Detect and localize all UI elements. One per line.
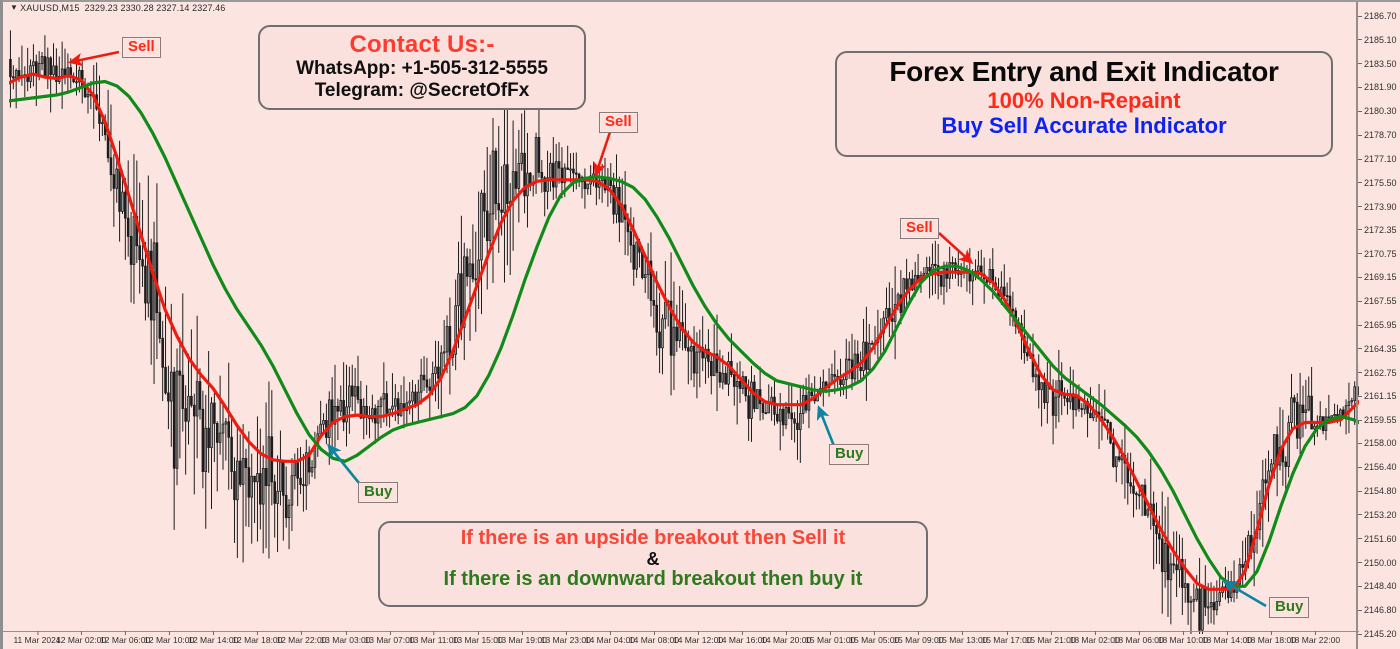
price-tick-label: 2175.50 [1358,179,1397,188]
rule-conjunction: & [390,550,916,568]
time-tick-label: 12 Mar 06:00 [100,636,150,645]
price-tick-label: 2185.10 [1358,36,1397,45]
price-tick-label: 2169.15 [1358,273,1397,282]
contact-whatsapp: WhatsApp: +1-505-312-5555 [270,58,574,80]
time-tick-label: 13 Mar 23:00 [541,636,591,645]
price-tick-label: 2151.60 [1358,535,1397,544]
price-tick-label: 2156.40 [1358,463,1397,472]
time-tick-label: 18 Mar 22:00 [1290,636,1340,645]
time-tick-label: 15 Mar 21:00 [1026,636,1076,645]
price-tick-label: 2181.90 [1358,83,1397,92]
time-tick-label: 15 Mar 01:00 [805,636,855,645]
contact-callout-box: Contact Us:- WhatsApp: +1-505-312-5555 T… [258,25,586,110]
time-tick-label: 11 Mar 2024 [13,636,60,645]
price-axis[interactable]: 2186.702185.102183.502181.902180.302178.… [1356,2,1400,649]
price-tick-label: 2158.00 [1358,439,1397,448]
time-tick-label: 14 Mar 20:00 [761,636,811,645]
chart-frame: ▼XAUUSD,M152329.23 2330.28 2327.14 2327.… [0,0,1400,649]
time-tick-label: 12 Mar 10:00 [144,636,194,645]
price-tick-label: 2183.50 [1358,60,1397,69]
time-tick-label: 15 Mar 09:00 [893,636,943,645]
time-tick-label: 18 Mar 06:00 [1114,636,1164,645]
price-tick-label: 2170.75 [1358,250,1397,259]
time-axis[interactable]: 11 Mar 202412 Mar 02:0012 Mar 06:0012 Ma… [3,631,1359,649]
forex-chart-screenshot: ▼XAUUSD,M152329.23 2330.28 2327.14 2327.… [0,0,1400,649]
time-tick-label: 18 Mar 10:00 [1158,636,1208,645]
indicator-subtitle-accuracy: Buy Sell Accurate Indicator [847,113,1321,138]
price-tick-label: 2162.75 [1358,369,1397,378]
price-tick-label: 2150.00 [1358,559,1397,568]
time-tick-label: 18 Mar 02:00 [1070,636,1120,645]
ohlc-values: 2329.23 2330.28 2327.14 2327.46 [85,3,226,13]
time-tick-label: 12 Mar 22:00 [276,636,326,645]
time-tick-label: 13 Mar 07:00 [365,636,415,645]
sell-signal-tag[interactable]: Sell [900,218,939,239]
rule-buy-text: If there is an downward breakout then bu… [390,568,916,591]
price-tick-label: 2186.70 [1358,12,1397,21]
sell-signal-tag[interactable]: Sell [599,112,638,133]
indicator-title: Forex Entry and Exit Indicator [847,56,1321,88]
time-tick-label: 14 Mar 16:00 [717,636,767,645]
price-tick-label: 2153.20 [1358,511,1397,520]
price-tick-label: 2145.20 [1358,630,1397,639]
price-tick-label: 2165.95 [1358,321,1397,330]
price-tick-label: 2173.90 [1358,203,1397,212]
symbol-header: ▼XAUUSD,M152329.23 2330.28 2327.14 2327.… [10,3,225,13]
contact-telegram: Telegram: @SecretOfFx [270,80,574,102]
time-tick-label: 18 Mar 18:00 [1246,636,1296,645]
price-tick-label: 2177.10 [1358,155,1397,164]
price-tick-label: 2167.55 [1358,297,1397,306]
price-tick-label: 2161.15 [1358,392,1397,401]
rule-sell-text: If there is an upside breakout then Sell… [390,527,916,550]
time-tick-label: 15 Mar 17:00 [981,636,1031,645]
price-tick-label: 2159.55 [1358,416,1397,425]
time-tick-label: 18 Mar 14:00 [1202,636,1252,645]
time-tick-label: 12 Mar 02:00 [56,636,106,645]
time-tick-label: 14 Mar 08:00 [629,636,679,645]
time-tick-label: 15 Mar 13:00 [937,636,987,645]
price-tick-label: 2146.80 [1358,606,1397,615]
price-tick-label: 2172.35 [1358,226,1397,235]
buy-signal-tag[interactable]: Buy [358,482,398,503]
triangle-down-icon[interactable]: ▼ [10,3,18,12]
price-tick-label: 2164.35 [1358,345,1397,354]
time-tick-label: 12 Mar 18:00 [232,636,282,645]
indicator-title-box: Forex Entry and Exit Indicator 100% Non-… [835,51,1333,157]
indicator-subtitle-repaint: 100% Non-Repaint [847,88,1321,113]
time-tick-label: 14 Mar 12:00 [673,636,723,645]
time-tick-label: 13 Mar 03:00 [320,636,370,645]
time-tick-label: 12 Mar 14:00 [188,636,238,645]
time-tick-label: 13 Mar 11:00 [409,636,458,645]
price-tick-label: 2148.40 [1358,582,1397,591]
price-tick-label: 2178.70 [1358,131,1397,140]
symbol-label: XAUUSD,M15 [20,3,80,13]
trading-rules-box: If there is an upside breakout then Sell… [378,521,928,607]
contact-heading: Contact Us:- [270,31,574,58]
time-tick-label: 13 Mar 19:00 [497,636,547,645]
buy-signal-tag[interactable]: Buy [829,444,869,465]
price-tick-label: 2180.30 [1358,107,1397,116]
buy-signal-tag[interactable]: Buy [1269,597,1309,618]
time-tick-label: 13 Mar 15:00 [453,636,503,645]
time-tick-label: 14 Mar 04:00 [585,636,635,645]
sell-signal-tag[interactable]: Sell [122,37,161,58]
time-tick-label: 15 Mar 05:00 [849,636,899,645]
price-tick-label: 2154.80 [1358,487,1397,496]
